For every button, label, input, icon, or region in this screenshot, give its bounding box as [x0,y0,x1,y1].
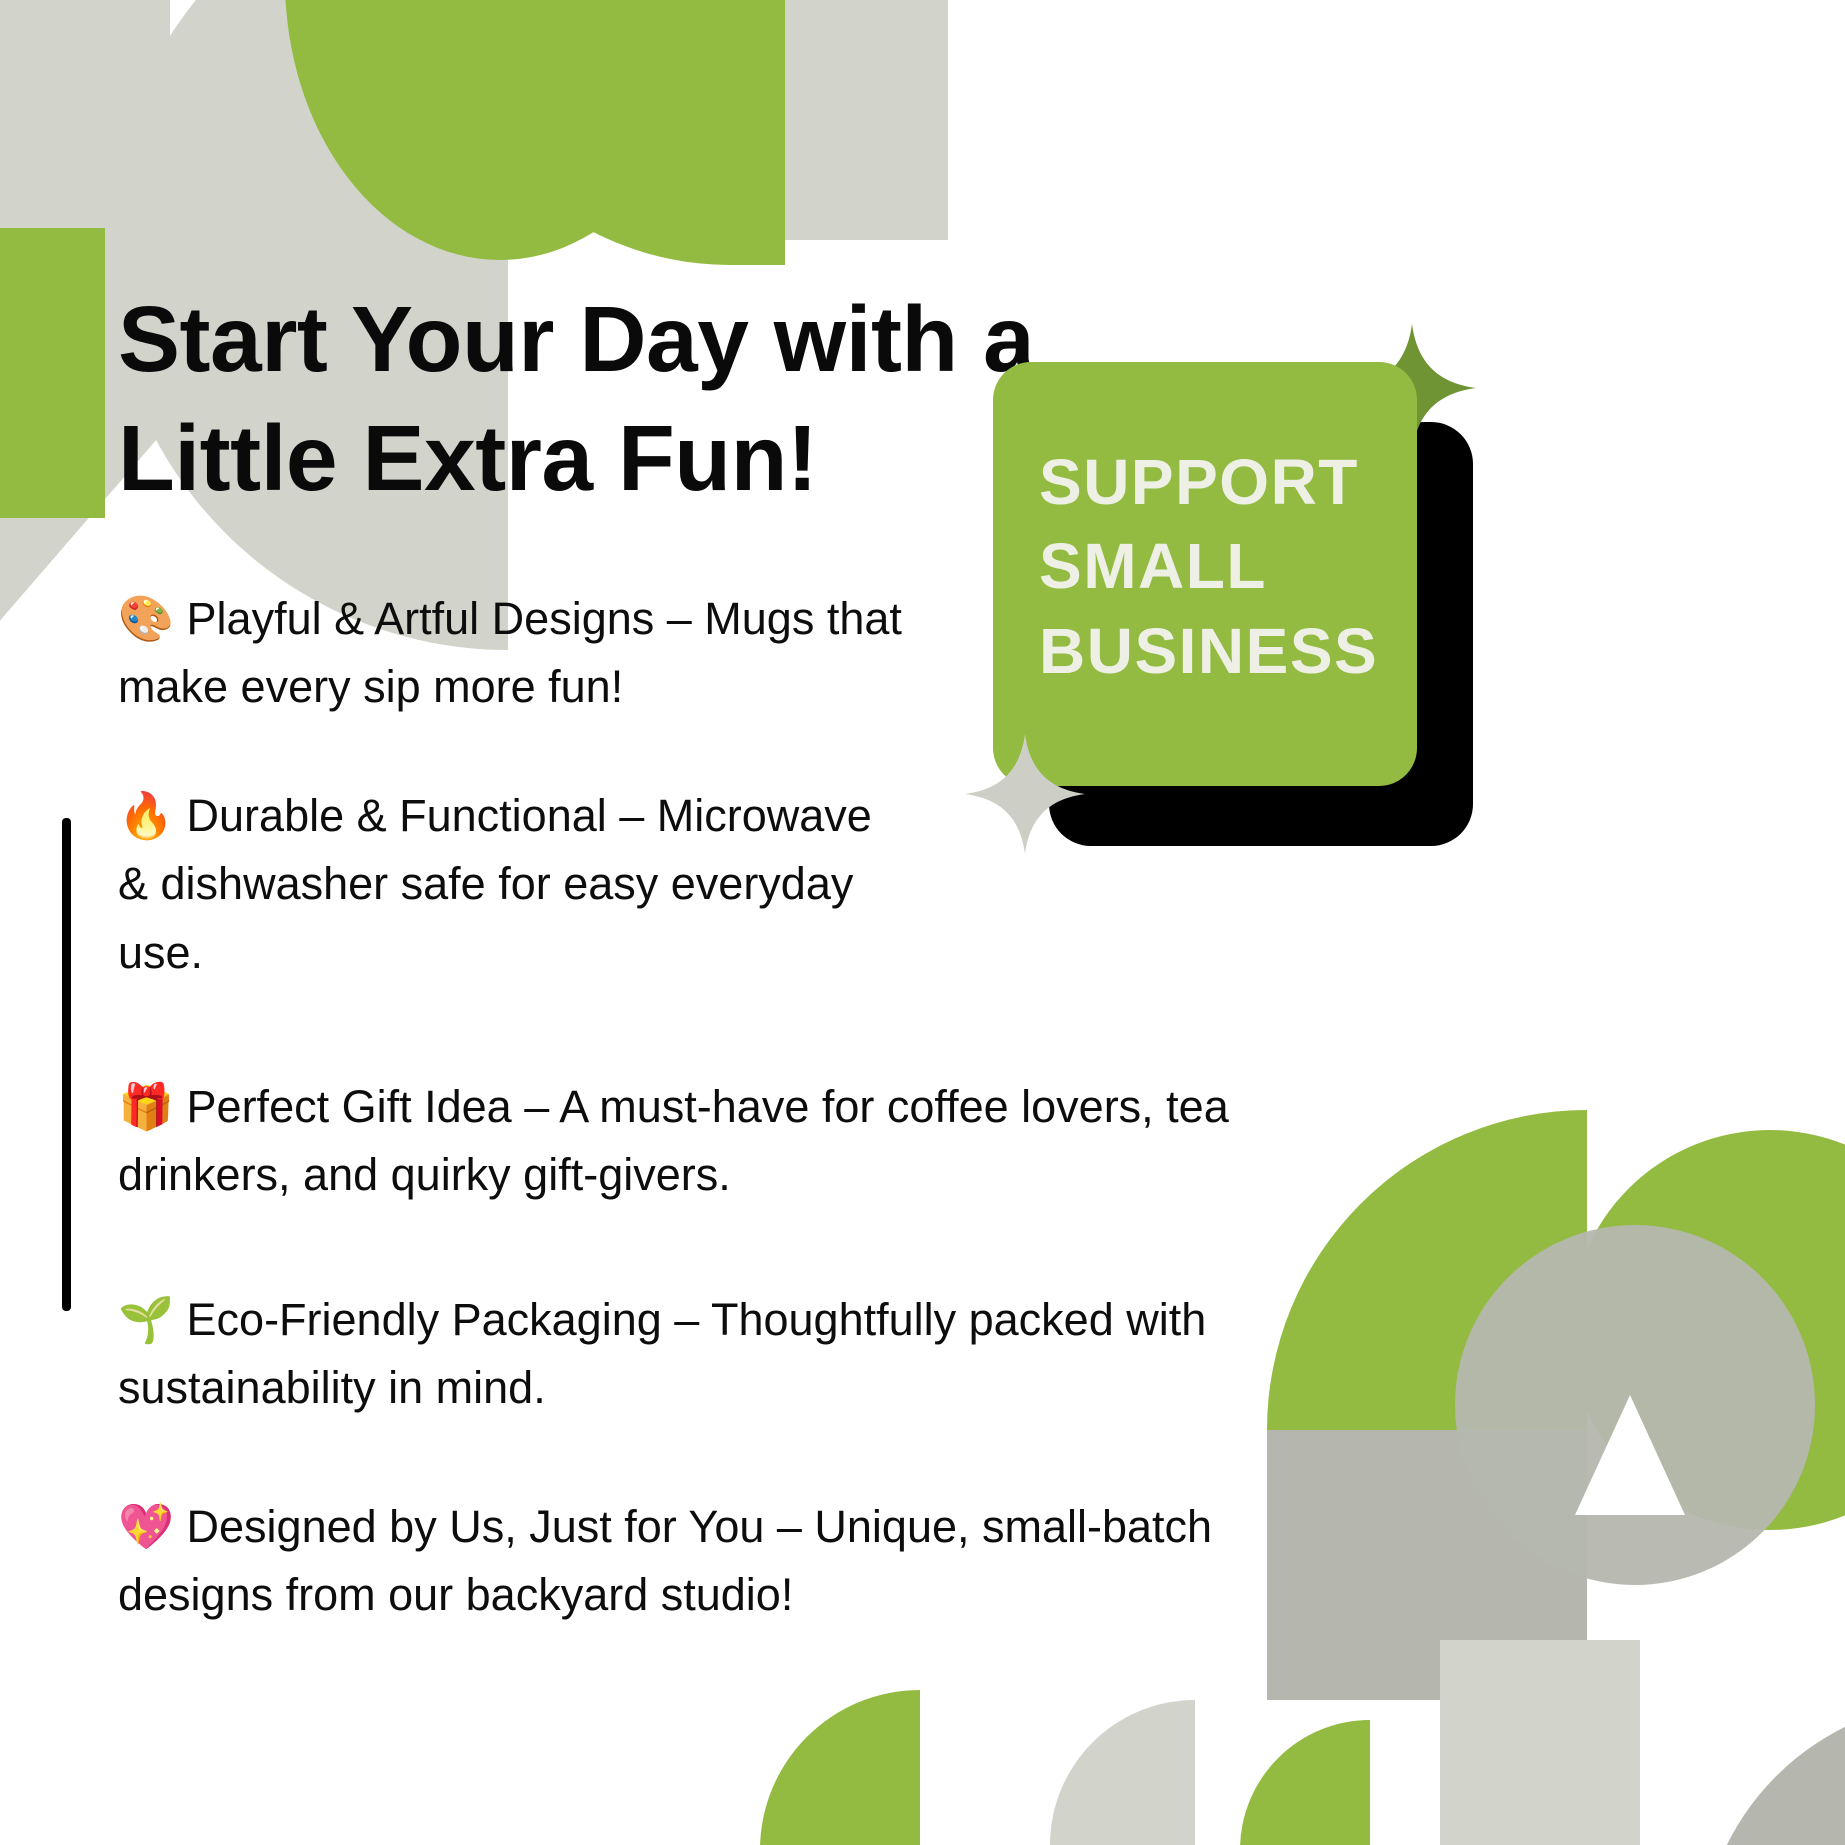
deco-grey-quarter-top [648,0,948,240]
deco-green-quarter-top [430,0,785,265]
list-item: 🔥 Durable & Functional – Microwave & dis… [118,782,908,987]
badge-card: SUPPORT SMALL BUSINESS [993,362,1417,786]
deco-green-quarter-bottom-center [760,1690,920,1845]
badge-line-3: BUSINESS [1039,609,1417,693]
support-small-business-badge: SUPPORT SMALL BUSINESS [993,362,1493,862]
badge-line-2: SMALL [1039,524,1417,608]
deco-grey-quarter-bottom-center [1050,1700,1195,1845]
list-item-text: Durable & Functional – Microwave & dishw… [118,790,872,978]
deco-green-disc-bottom-right [1570,1130,1845,1530]
artist-palette-icon: 🎨 [118,592,174,645]
list-item: 🎁 Perfect Gift Idea – A must-have for co… [118,1073,1238,1210]
deco-grey-disc-bottom-right [1455,1225,1815,1585]
deco-green-quarter-bottom-right [1267,1110,1587,1430]
deco-white-notch [1575,1395,1685,1515]
sparkling-heart-icon: 💖 [118,1500,174,1553]
list-item: 💖 Designed by Us, Just for You – Unique,… [118,1493,1258,1630]
deco-grey-square-bottom-right [1267,1430,1587,1700]
list-item-text: Designed by Us, Just for You – Unique, s… [118,1501,1212,1620]
left-vertical-rule [62,818,71,1311]
list-item-text: Perfect Gift Idea – A must-have for coff… [118,1081,1229,1200]
deco-grey-column-bottom [1440,1640,1640,1845]
list-item-text: Eco-Friendly Packaging – Thoughtfully pa… [118,1294,1206,1413]
four-point-star-icon [965,734,1085,854]
list-item-text: Playful & Artful Designs – Mugs that mak… [118,593,902,712]
badge-line-1: SUPPORT [1039,440,1417,524]
gift-icon: 🎁 [118,1080,174,1133]
promotional-poster: Start Your Day with a Little Extra Fun! … [0,0,1845,1845]
headline-line-1: Start Your Day with a [118,280,1038,399]
deco-green-square-left [0,228,105,518]
headline-line-2: Little Extra Fun! [118,399,1038,518]
fire-icon: 🔥 [118,789,174,842]
list-item: 🎨 Playful & Artful Designs – Mugs that m… [118,585,918,722]
deco-green-quarter-bottom-center-2 [1240,1720,1370,1845]
deco-grey-quarter-corner [1700,1700,1845,1845]
list-item: 🌱 Eco-Friendly Packaging – Thoughtfully … [118,1286,1268,1423]
page-title: Start Your Day with a Little Extra Fun! [118,280,1038,518]
seedling-icon: 🌱 [118,1293,174,1346]
deco-green-ellipse-top [285,0,715,260]
